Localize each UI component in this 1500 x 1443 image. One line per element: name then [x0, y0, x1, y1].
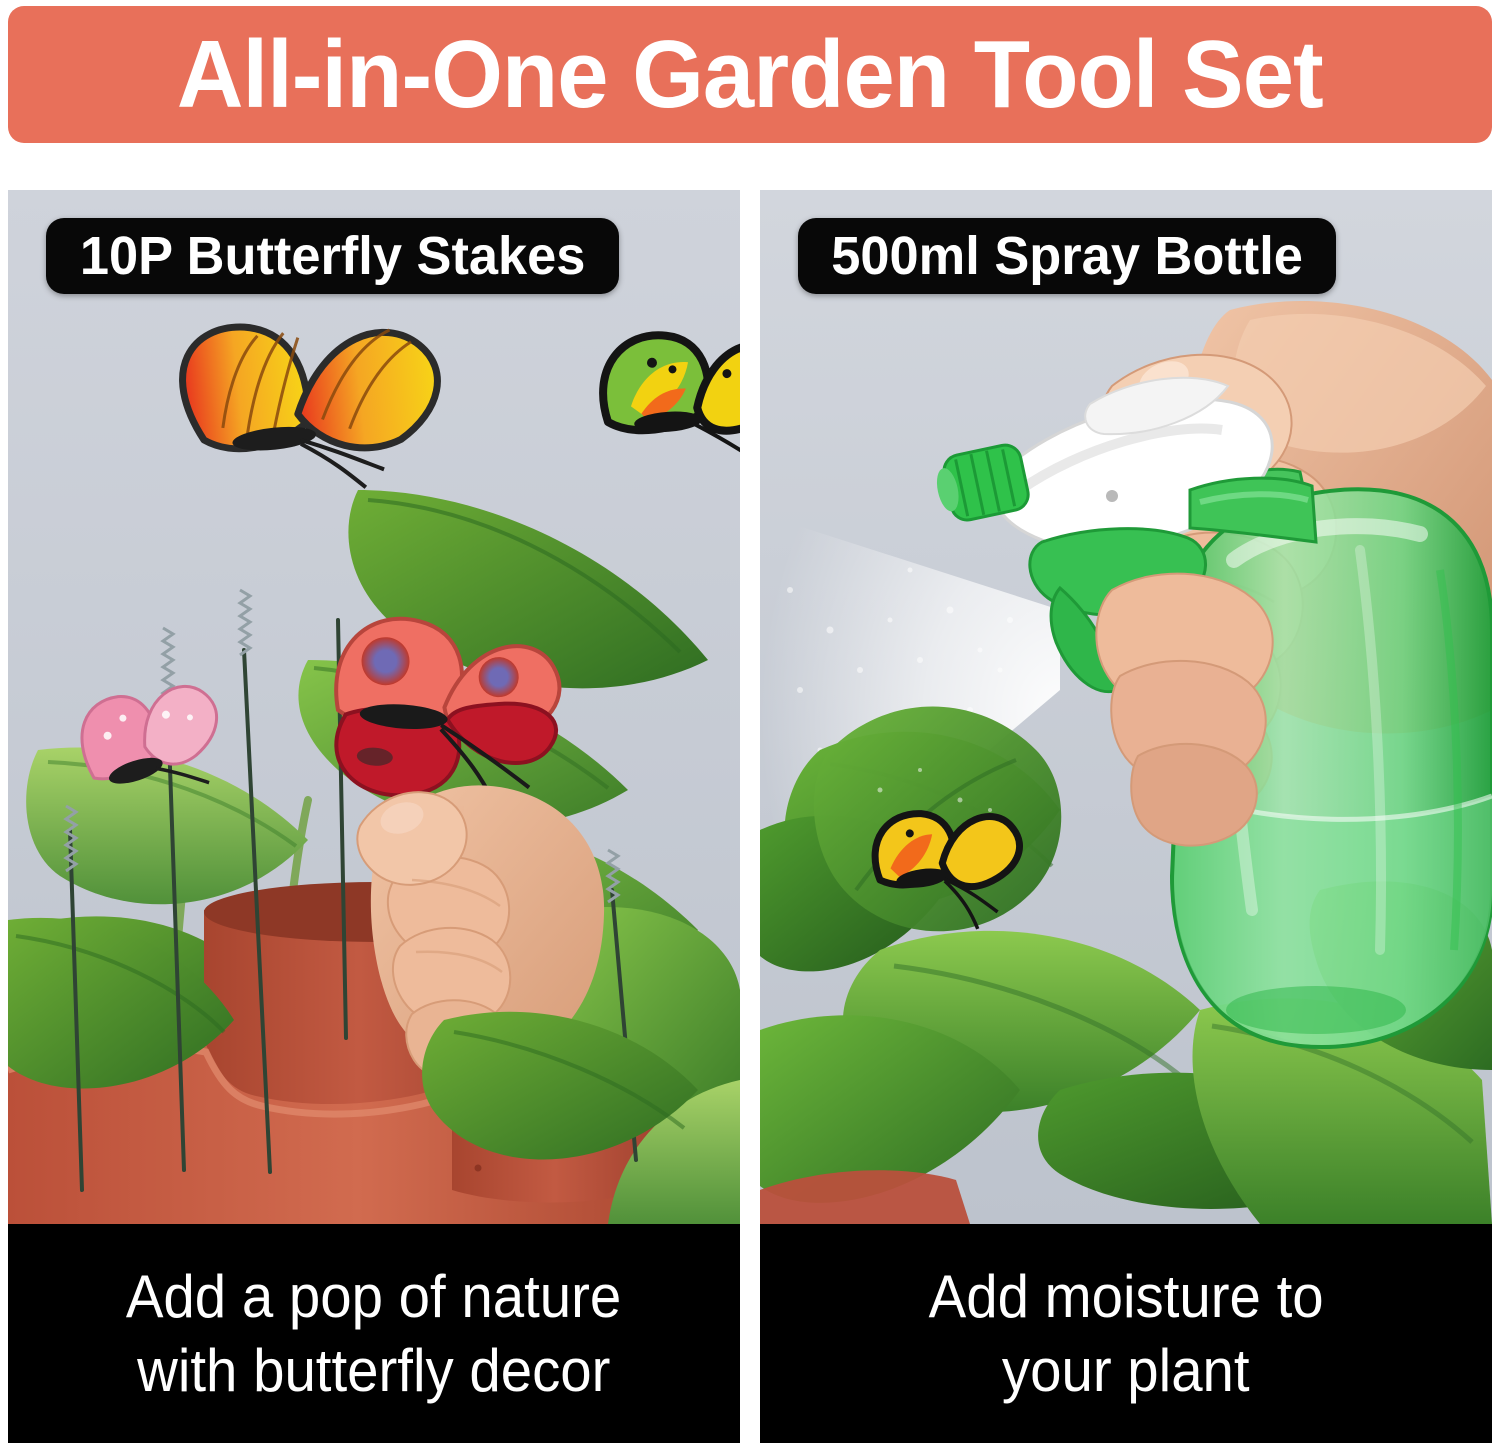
caption-line-1: Add a pop of nature — [126, 1260, 621, 1333]
caption-line-1: Add moisture to — [928, 1260, 1323, 1333]
caption-line-2: your plant — [1002, 1334, 1250, 1407]
banner: All-in-One Garden Tool Set — [8, 6, 1492, 143]
page-title: All-in-One Garden Tool Set — [177, 27, 1323, 123]
badge-label: 10P Butterfly Stakes — [80, 229, 586, 283]
panel-butterfly-stakes: 10P Butterfly Stakes Add a pop of nature… — [8, 190, 740, 1443]
caption-spray-bottle: Add moisture to your plant — [760, 1224, 1492, 1443]
badge-label: 500ml Spray Bottle — [831, 229, 1303, 283]
photo-spray-bottle — [760, 190, 1492, 1224]
caption-butterfly-stakes: Add a pop of nature with butterfly decor — [8, 1224, 740, 1443]
product-infographic: All-in-One Garden Tool Set — [0, 0, 1500, 1443]
caption-line-2: with butterfly decor — [137, 1334, 610, 1407]
photo-butterfly-stakes — [8, 190, 740, 1224]
panel-spray-bottle: 500ml Spray Bottle Add moisture to your … — [760, 190, 1492, 1443]
badge-spray-bottle: 500ml Spray Bottle — [798, 218, 1336, 294]
panel-row: 10P Butterfly Stakes Add a pop of nature… — [8, 190, 1492, 1443]
badge-butterfly-stakes: 10P Butterfly Stakes — [46, 218, 619, 294]
